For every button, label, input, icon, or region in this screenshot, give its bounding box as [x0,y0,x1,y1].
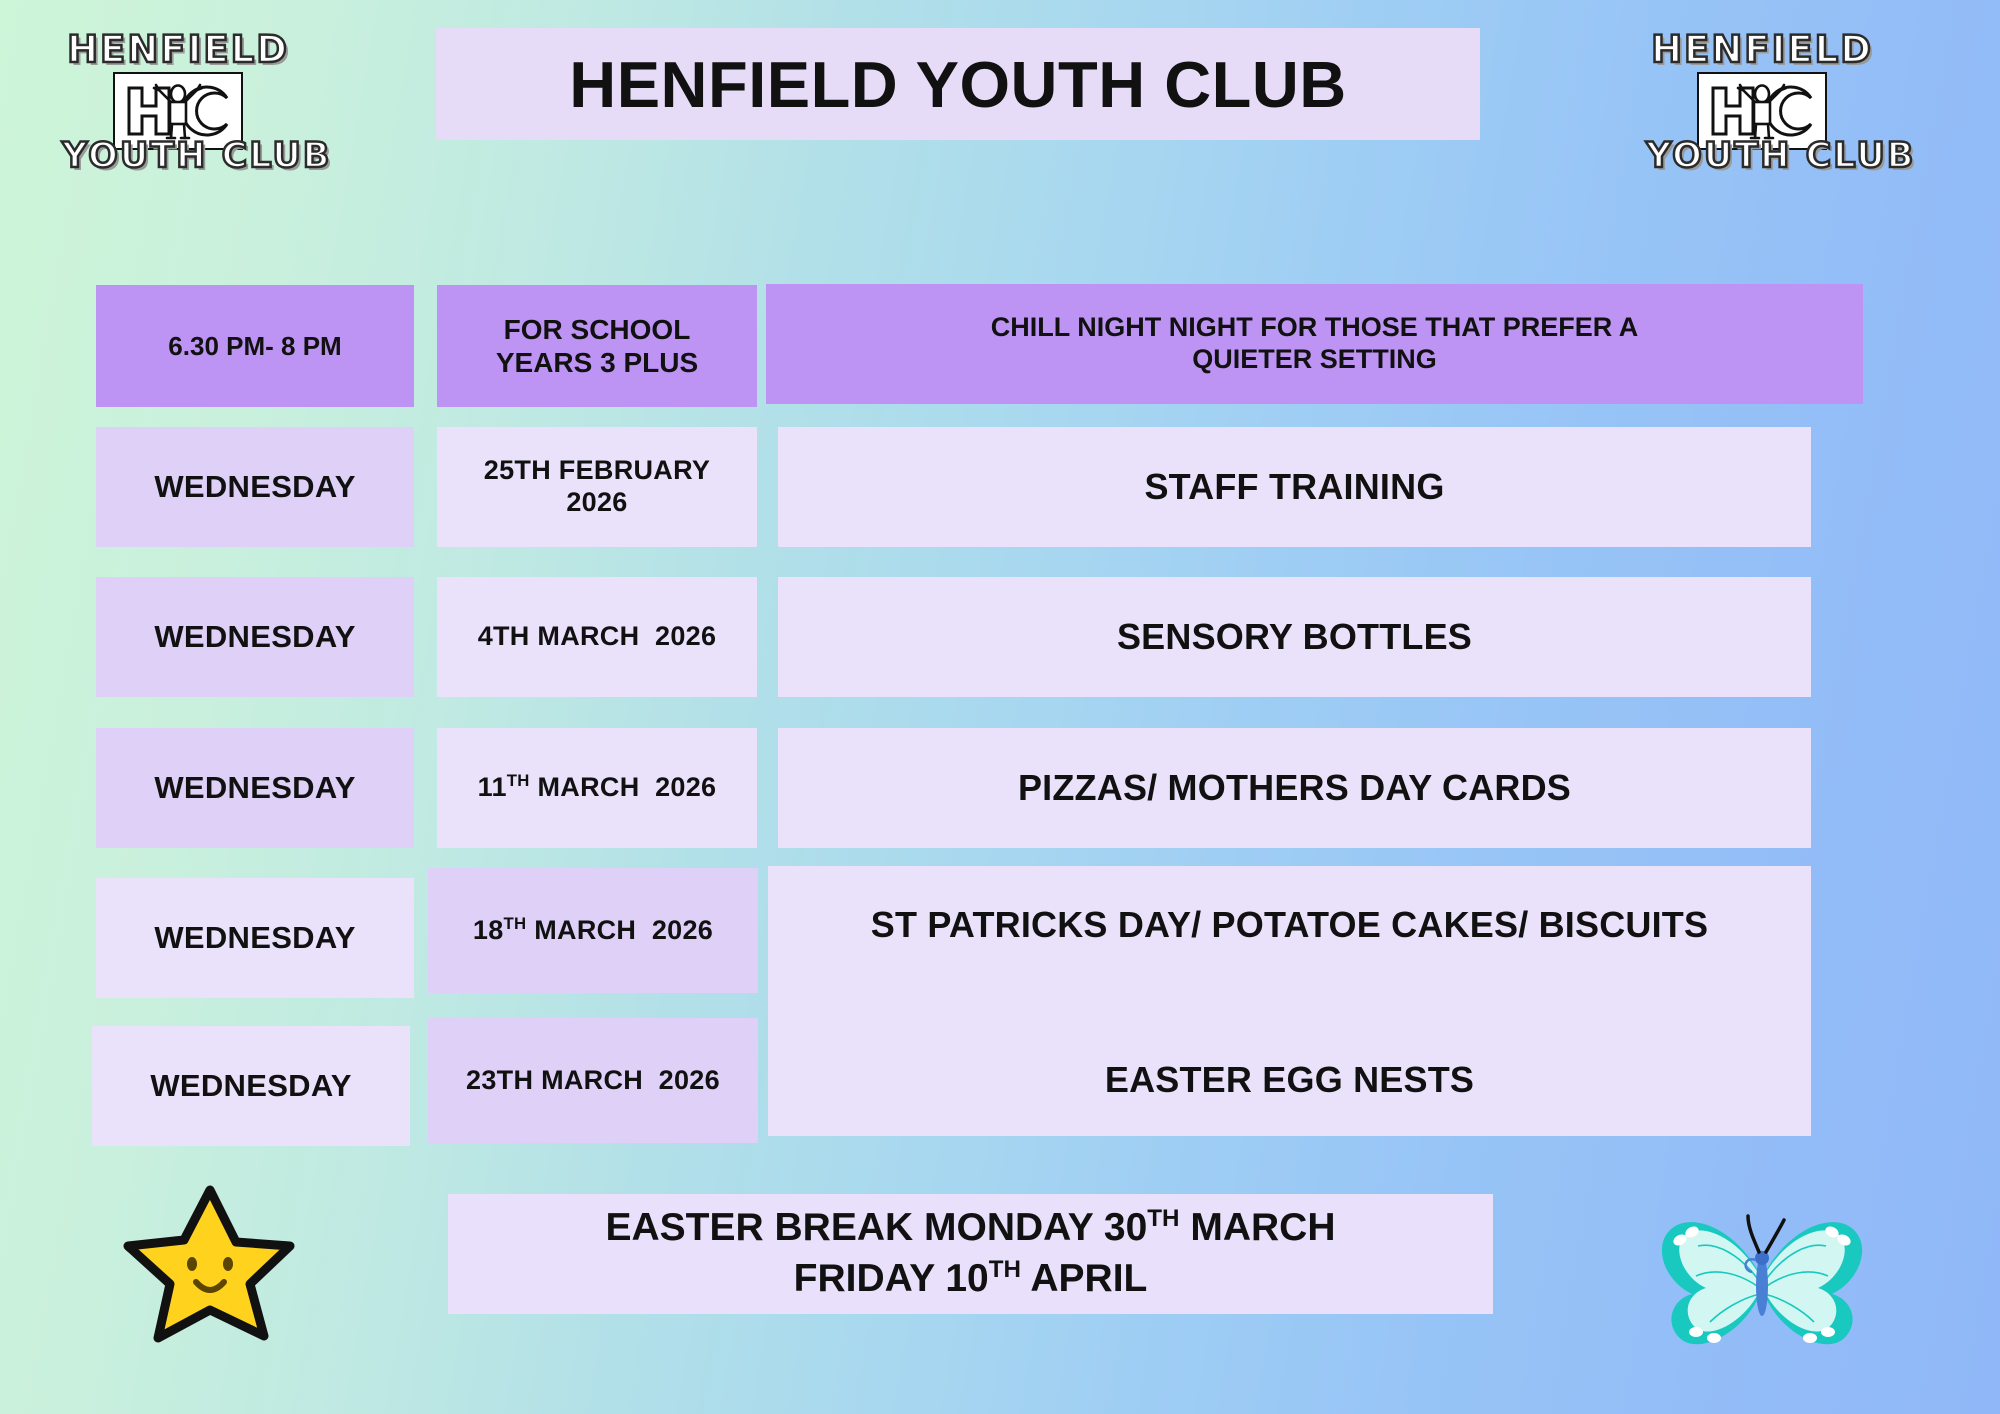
logo-top-text: HENFIELD [62,28,294,71]
table-row-date-main-4: 23TH MARCH 2026 [466,1065,720,1097]
logo-top-text-right: HENFIELD [1646,28,1878,71]
header-school-years-line1: FOR SCHOOL [504,313,691,346]
table-row-date-4: 23TH MARCH 2026 [428,1018,758,1143]
table-row-activity-1: SENSORY BOTTLES [778,577,1811,697]
footer-ordinal-2: TH [989,1256,1021,1283]
table-row-date-year-0: 2026 [566,487,627,519]
butterfly-icon [1652,1190,1872,1355]
table-row-day-2: WEDNESDAY [96,728,414,848]
date-ordinal-suffix-3: TH [504,914,527,933]
footer-ordinal-1: TH [1147,1205,1179,1232]
table-row-day-0: WEDNESDAY [96,427,414,547]
table-row-date-0: 25TH FEBRUARY 2026 [437,427,757,547]
logo-bottom-text-right: YOUTH CLUB [1646,136,1878,176]
header-time: 6.30 PM- 8 PM [96,285,414,407]
header-school-years-line2: YEARS 3 PLUS [496,346,698,379]
table-row-day-3: WEDNESDAY [96,878,414,998]
table-row-activity-4: EASTER EGG NESTS [768,1020,1811,1140]
logo-left: HENFIELD YOUTH CLUB [62,28,294,176]
header-chill-note: CHILL NIGHT NIGHT FOR THOSE THAT PREFER … [766,284,1863,404]
date-ordinal-suffix-2: TH [507,771,530,790]
table-row-day-1: WEDNESDAY [96,577,414,697]
table-row-activity-0: STAFF TRAINING [778,427,1811,547]
easter-break-line2: FRIDAY 10TH APRIL [794,1257,1148,1300]
table-row-date-main-1: 4TH MARCH 2026 [478,621,717,653]
table-row-date-main-2: 11TH MARCH 2026 [478,772,717,804]
table-row-day-4: WEDNESDAY [92,1026,410,1146]
logo-bottom-text: YOUTH CLUB [62,136,294,176]
page-title-banner: HENFIELD YOUTH CLUB [436,28,1480,140]
table-row-date-main-3: 18TH MARCH 2026 [473,915,713,947]
header-chill-note-line1: CHILL NIGHT NIGHT FOR THOSE THAT PREFER … [991,312,1639,344]
easter-break-text: EASTER BREAK MONDAY 30TH MARCH FRIDAY 10… [605,1203,1335,1304]
table-row-date-main-0: 25TH FEBRUARY [484,455,710,487]
easter-break-line1: EASTER BREAK MONDAY 30TH MARCH [605,1206,1335,1249]
page-title: HENFIELD YOUTH CLUB [569,47,1346,122]
table-row-date-1: 4TH MARCH 2026 [437,577,757,697]
smiling-star-icon [118,1184,298,1344]
table-row-date-2: 11TH MARCH 2026 [437,728,757,848]
table-row-activity-2: PIZZAS/ MOTHERS DAY CARDS [778,728,1811,848]
header-school-years: FOR SCHOOL YEARS 3 PLUS [437,285,757,407]
logo-right: HENFIELD YOUTH CLUB [1646,28,1878,176]
easter-break-banner: EASTER BREAK MONDAY 30TH MARCH FRIDAY 10… [448,1194,1493,1314]
poster-canvas: HENFIELD YOUTH CLUB HENFIELD [0,0,2000,1414]
header-chill-note-line2: QUIETER SETTING [1192,344,1437,376]
table-row-date-3: 18TH MARCH 2026 [428,868,758,993]
